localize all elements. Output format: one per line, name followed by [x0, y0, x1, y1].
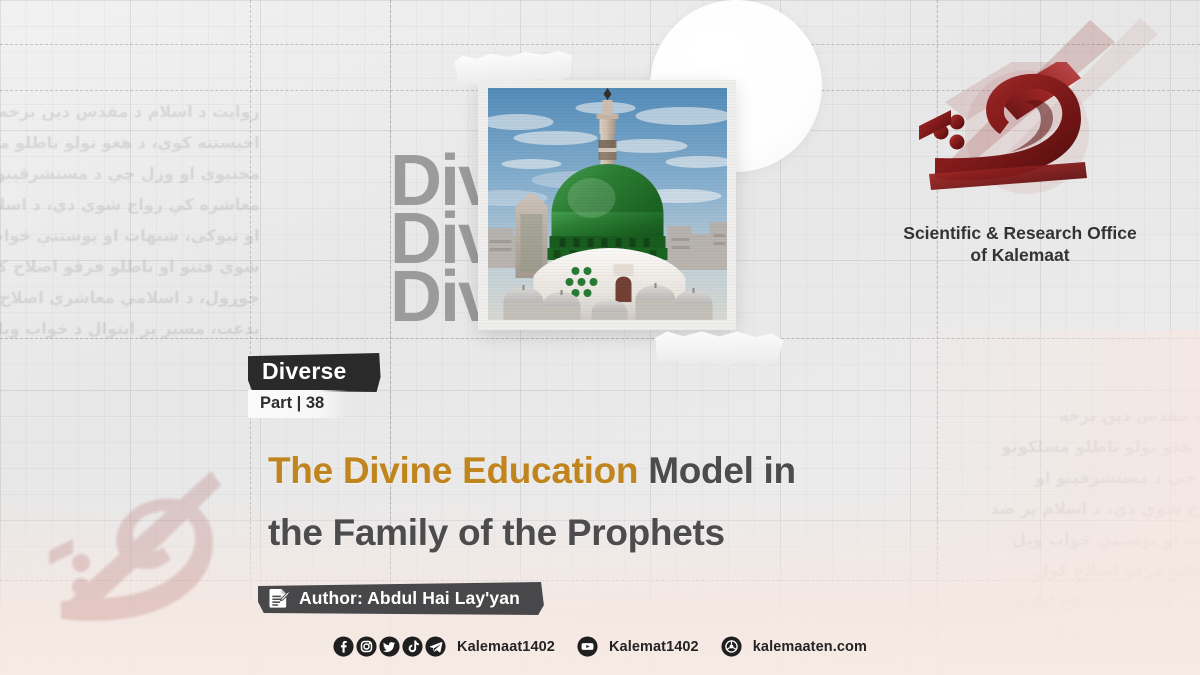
- mosque-photo: [488, 88, 727, 320]
- social-handle-website: kalemaaten.com: [753, 639, 867, 655]
- guide-line-h1: [0, 44, 1200, 45]
- author-label: Author: Abdul Hai Lay'yan: [299, 588, 520, 609]
- social-handle-youtube: Kalemat1402: [609, 639, 699, 655]
- kalemaat-logo-icon: [905, 62, 1135, 212]
- social-icon-row: [333, 636, 446, 657]
- document-pencil-icon: [269, 587, 290, 610]
- logo-watermark: [25, 455, 265, 665]
- page-title: The Divine Education Model in the Family…: [268, 440, 968, 564]
- instagram-icon[interactable]: [356, 636, 377, 657]
- social-group-website: kalemaaten.com: [721, 636, 867, 657]
- brand-office-line2: of Kalemaat: [860, 244, 1180, 266]
- brand-office-name: Scientific & Research Office of Kalemaat: [860, 222, 1180, 266]
- background-text-watermark-left: روایت د اسلام د مقدس دین برخه اخیستنه کو…: [0, 96, 260, 344]
- part-badge: Part | 38: [248, 390, 348, 418]
- headline-line1-rest: Model in: [638, 450, 796, 491]
- headline-line-1: The Divine Education Model in: [268, 440, 968, 502]
- brand-office-line1: Scientific & Research Office: [860, 222, 1180, 244]
- globe-icon[interactable]: [721, 636, 742, 657]
- social-group-primary: Kalemaat1402: [333, 636, 555, 657]
- brand-block: Scientific & Research Office of Kalemaat: [860, 62, 1180, 266]
- tiktok-icon[interactable]: [402, 636, 423, 657]
- social-handle-primary: Kalemaat1402: [457, 639, 555, 655]
- poster-canvas: روایت د اسلام د مقدس دین برخه اخیستنه کو…: [0, 0, 1200, 675]
- facebook-icon[interactable]: [333, 636, 354, 657]
- category-badge: Diverse: [248, 353, 381, 392]
- headline-highlight: The Divine Education: [268, 450, 638, 491]
- twitter-icon[interactable]: [379, 636, 400, 657]
- author-bar: Author: Abdul Hai Lay'yan: [258, 582, 544, 615]
- youtube-icon[interactable]: [577, 636, 598, 657]
- telegram-icon[interactable]: [425, 636, 446, 657]
- headline-line-2: the Family of the Prophets: [268, 502, 968, 564]
- photo-frame: [478, 80, 736, 330]
- social-footer: Kalemaat1402 Kalemat1402 kalemaat: [0, 636, 1200, 657]
- social-group-youtube: Kalemat1402: [577, 636, 699, 657]
